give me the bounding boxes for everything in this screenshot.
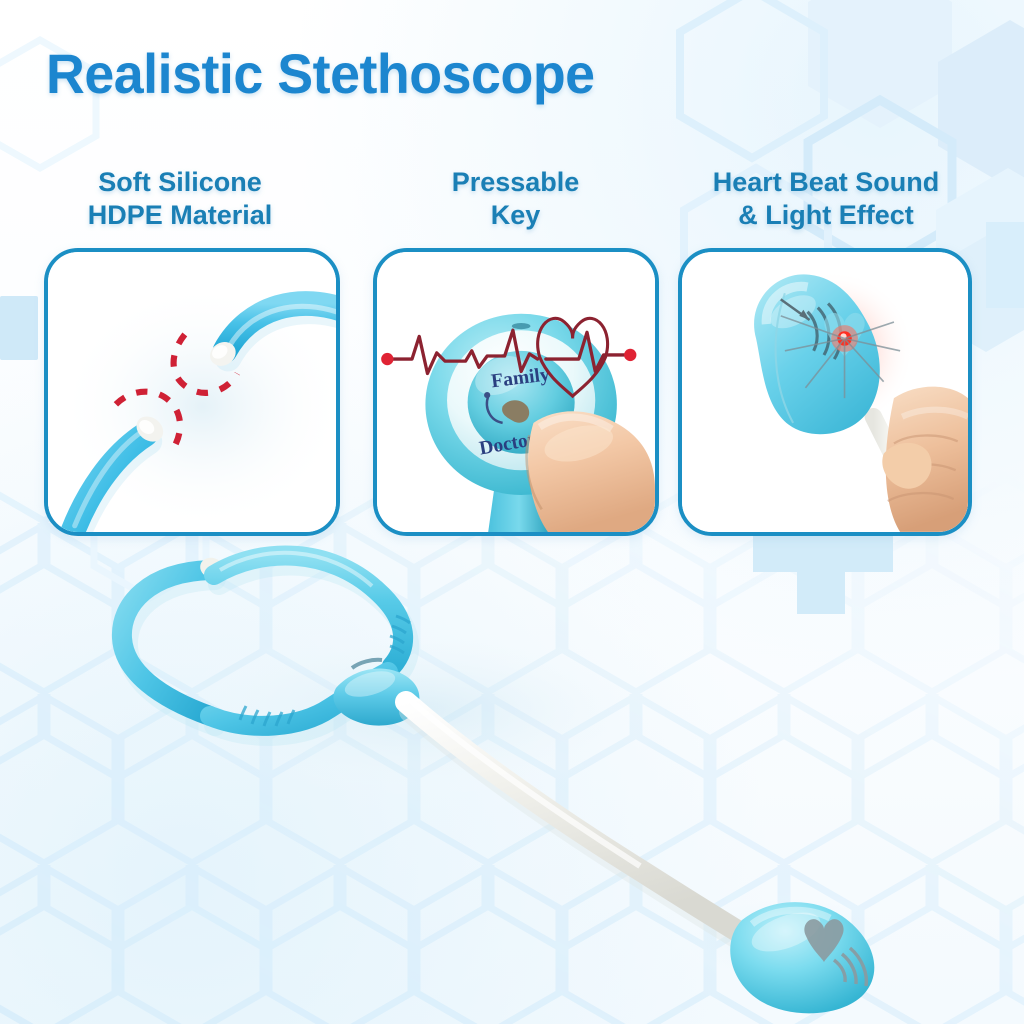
decor-tab-left [0,296,38,360]
caption-line: Key [373,199,658,232]
pressable-key-photo: Family Doctor [377,252,655,532]
decor-tab-right [986,222,1024,308]
heartbeat-light-photo [682,252,968,532]
feature-caption-soft-silicone: Soft Silicone HDPE Material [30,166,330,232]
product-feature-image: Realistic Stethoscope Soft Silicone HDPE… [0,0,1024,1024]
page-title: Realistic Stethoscope [46,44,776,104]
feature-panel-soft-silicone [44,248,340,536]
caption-line: & Light Effect [676,199,976,232]
silicone-tubes-photo [48,252,336,532]
feature-panel-pressable-key: Family Doctor [373,248,659,536]
caption-line: HDPE Material [30,199,330,232]
caption-line: Pressable [373,166,658,199]
caption-line: Heart Beat Sound [676,166,976,199]
stethoscope-illustration [0,520,1024,1024]
feature-caption-heart-beat-sound: Heart Beat Sound & Light Effect [676,166,976,232]
feature-caption-pressable-key: Pressable Key [373,166,658,232]
caption-line: Soft Silicone [30,166,330,199]
feature-panel-heart-beat-sound-light [678,248,972,536]
product-photo-stethoscope [0,520,1024,1024]
